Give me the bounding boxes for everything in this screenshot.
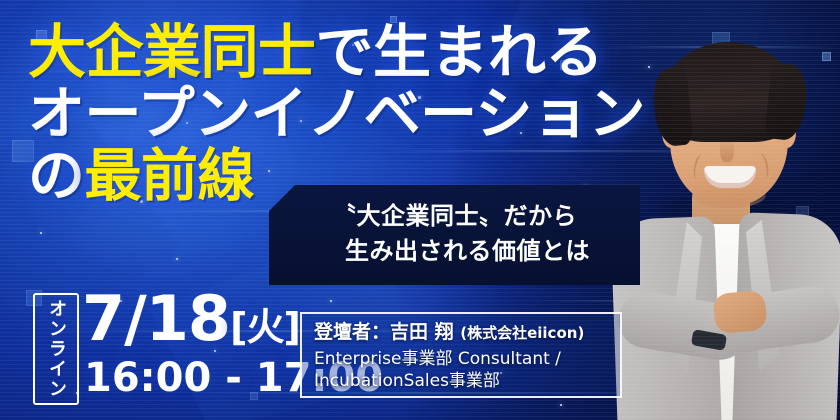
webinar-banner: 大企業同士で生まれる オープンイノベーション の最前線 〝大企業同士〟だから 生… <box>0 0 840 420</box>
subtitle-line-2: 生み出される価値とは <box>269 234 640 269</box>
online-badge: オンライン <box>33 293 79 405</box>
speaker-organization: (株式会社eiicon) <box>460 324 584 342</box>
headline-line-1: 大企業同士で生まれる <box>28 24 648 81</box>
event-day-of-week: [火] <box>230 305 300 349</box>
headline: 大企業同士で生まれる オープンイノベーション の最前線 <box>28 24 648 205</box>
subtitle-line-1: 〝大企業同士〟だから <box>269 199 640 234</box>
headline-line-3-rest: の <box>28 143 85 209</box>
speaker-name-line: 登壇者：吉田 翔 (株式会社eiicon) <box>314 321 620 345</box>
headline-line-2: オープンイノベーション <box>28 87 648 143</box>
speaker-dept-line-2: IncubationSales事業部 <box>314 370 620 392</box>
headline-line-2-text: オープンイノベーション <box>28 81 645 147</box>
speaker-dept-line-1: Enterprise事業部 Consultant / <box>314 348 620 370</box>
headline-line-1-highlight: 大企業同士 <box>28 18 316 86</box>
event-date-value: 7/18 <box>82 282 230 355</box>
online-badge-label: オンライン <box>47 299 65 399</box>
headline-line-3-highlight: 最前線 <box>85 143 255 209</box>
speaker-name: 登壇者：吉田 翔 <box>314 321 454 343</box>
subtitle-text: 〝大企業同士〟だから 生み出される価値とは <box>269 199 640 269</box>
headline-line-1-rest: で生まれる <box>316 18 604 86</box>
subtitle-panel: 〝大企業同士〟だから 生み出される価値とは <box>269 185 640 285</box>
speaker-info-box: 登壇者：吉田 翔 (株式会社eiicon) Enterprise事業部 Cons… <box>300 312 622 398</box>
event-date: 7/18[火] <box>82 288 300 350</box>
